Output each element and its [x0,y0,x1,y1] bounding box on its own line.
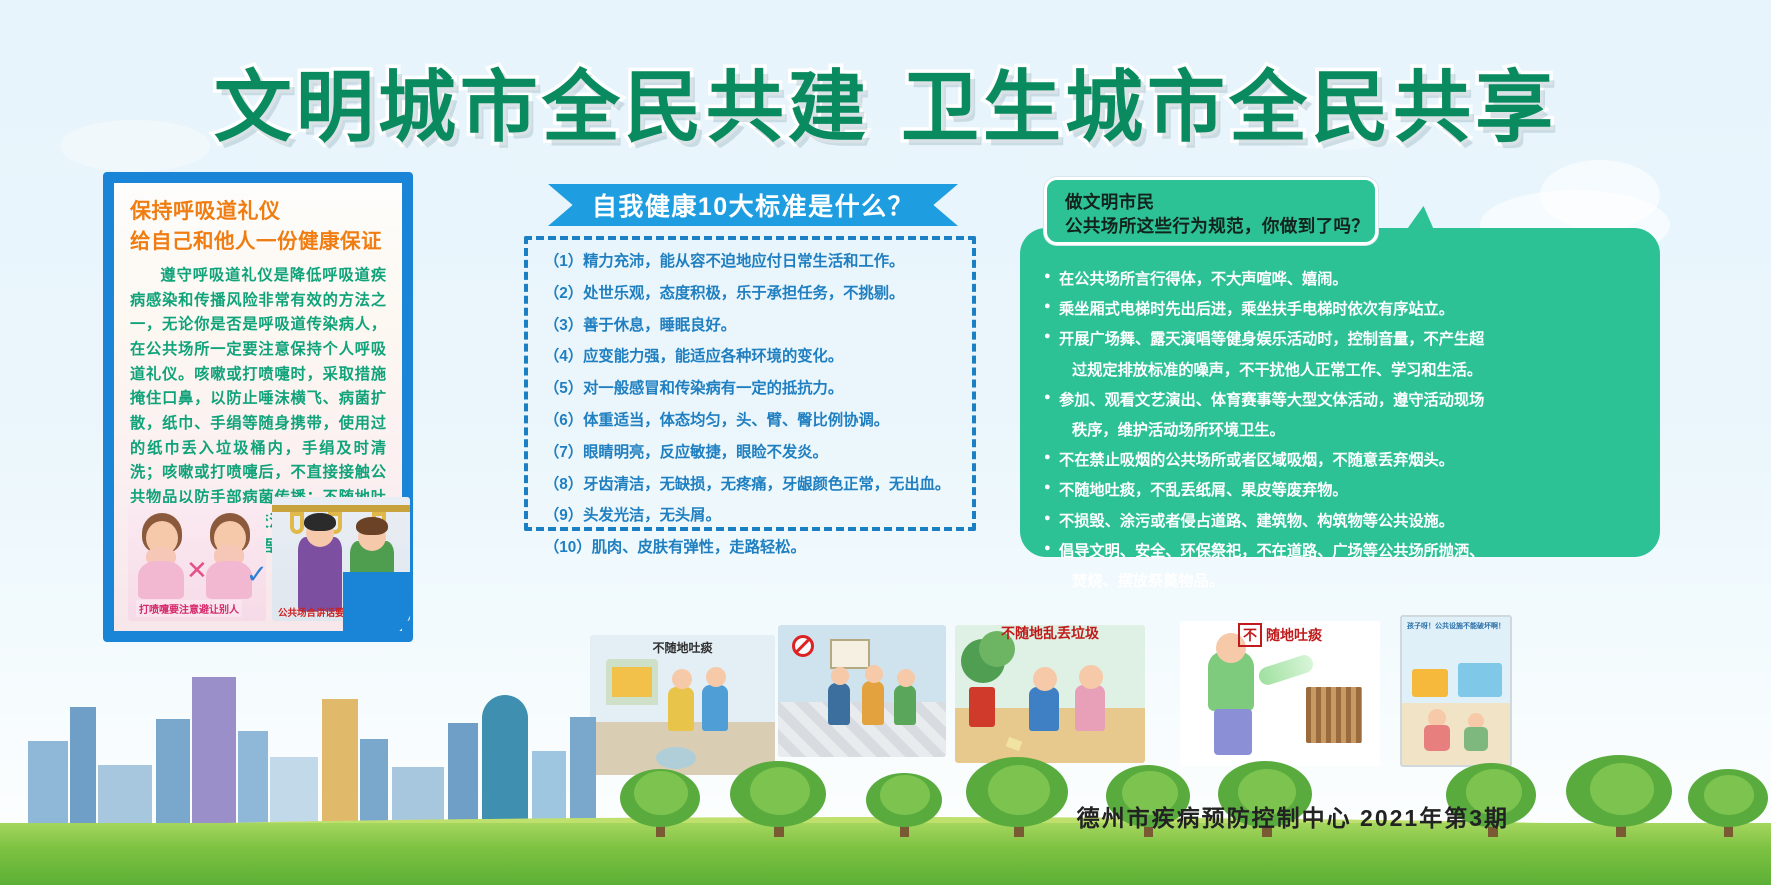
civic-header-line-2: 公共场所这些行为规范，你做到了吗？ [1065,214,1375,238]
list-item-continuation: 焚烧、摆放祭奠物品。 [1044,574,1640,589]
health-standards-list: （1）精力充沛，能从容不迫地应付日常生活和工作。 （2）处世乐观，态度积极，乐于… [524,236,976,531]
list-item: 不损毁、涂污或者侵占道路、建筑物、构筑物等公共设施。 [1044,514,1640,529]
list-item: （1）精力充沛，能从容不迫地应付日常生活和工作。 [544,254,962,269]
list-item: （6）体重适当，体态均匀，头、臂、臀比例协调。 [544,413,962,428]
list-item: 倡导文明、安全、环保祭祀，不在道路、广场等公共场所抛洒、 [1044,544,1640,559]
list-item: （8）牙齿清洁，无缺损，无疼痛，牙龈颜色正常，无出血。 [544,477,962,492]
list-item: 开展广场舞、露天演唱等健身娱乐活动时，控制音量，不产生超 [1044,332,1640,347]
list-item-continuation: 秩序，维护活动场所环境卫生。 [1044,423,1640,438]
left-panel-heading-2: 给自己和他人一份健康保证 [130,227,386,257]
poster-root: 文明城市全民共建 卫生城市全民共享 保持呼吸道礼仪 给自己和他人一份健康保证 遵… [0,0,1771,885]
civic-behaviour-header: 做文明市民 公共场所这些行为规范，你做到了吗？ [1044,177,1378,245]
civic-header-line-1: 做文明市民 [1065,190,1375,214]
health-standards-banner: 自我健康10大标准是什么？ [548,184,958,226]
list-item: 参加、观看文艺演出、体育赛事等大型文体活动，遵守活动现场 [1044,393,1640,408]
tree-decoration [612,741,708,837]
list-item: 乘坐厢式电梯时先出后进，乘坐扶手电梯时依次有序站立。 [1044,302,1640,317]
left-panel-heading-1: 保持呼吸道礼仪 [130,197,386,227]
tree-decoration [1560,729,1680,837]
list-item: （2）处世乐观，态度积极，乐于承担任务，不挑剔。 [544,286,962,301]
civic-behaviour-list: 在公共场所言行得体，不大声喧哗、嬉闹。 乘坐厢式电梯时先出后进，乘坐扶手电梯时依… [1020,228,1660,557]
page-title: 文明城市全民共建 卫生城市全民共享 [214,45,1557,157]
tree-decoration [1680,745,1771,837]
footer-credit: 德州市疾病预防控制中心 2021年第3期 [1077,799,1509,833]
list-item: 不随地吐痰，不乱丢纸屑、果皮等废弃物。 [1044,483,1640,498]
list-item: （5）对一般感冒和传染病有一定的抵抗力。 [544,381,962,396]
poster-title-container: 文明城市全民共建 卫生城市全民共享 [0,45,1771,157]
list-item: 在公共场所言行得体，不大声喧哗、嬉闹。 [1044,272,1640,287]
tree-decoration [858,749,950,837]
list-item: （7）眼睛明亮，反应敏捷，眼睑不发炎。 [544,445,962,460]
list-item: （9）头发光洁，无头屑。 [544,508,962,523]
tree-decoration [960,727,1076,837]
list-item: （3）善于休息，睡眠良好。 [544,318,962,333]
list-item: 不在禁止吸烟的公共场所或者区域吸烟，不随意丢弃烟头。 [1044,453,1640,468]
list-item-continuation: 过规定排放标准的噪声，不干扰他人正常工作、学习和生活。 [1044,363,1640,378]
cloud-decoration [1540,160,1660,230]
list-item: （4）应变能力强，能适应各种环境的变化。 [544,349,962,364]
tree-decoration [724,733,834,837]
